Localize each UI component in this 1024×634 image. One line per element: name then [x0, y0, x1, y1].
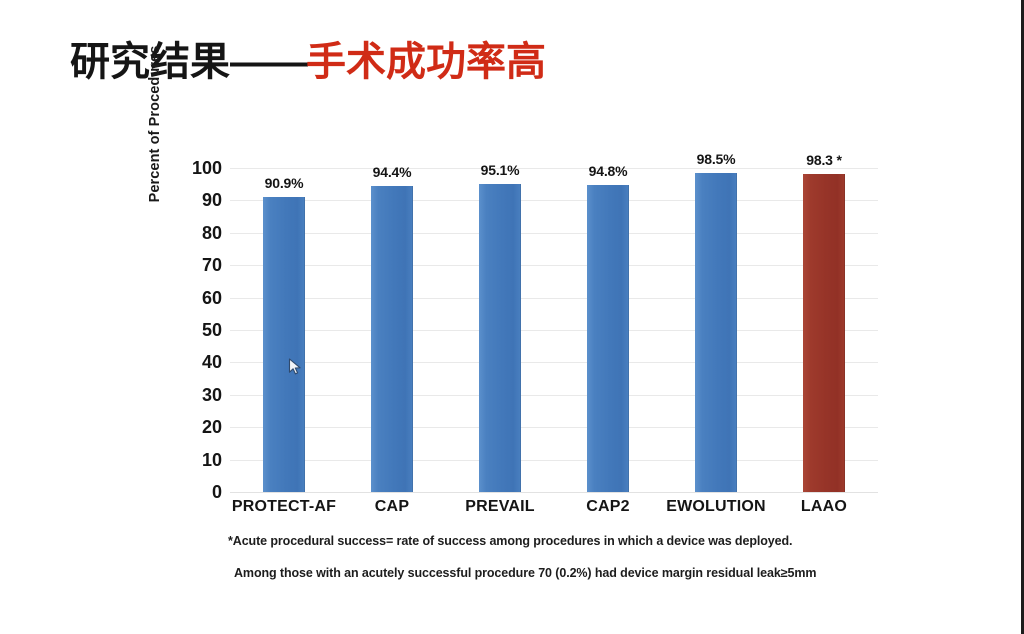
y-tick-label: 10: [152, 451, 222, 469]
page-title: 研究结果——手术成功率高: [70, 33, 546, 91]
bar-prevail[interactable]: [479, 184, 521, 492]
y-tick-label: 0: [152, 483, 222, 501]
bar-slot: 98.3 *: [770, 168, 878, 492]
bar-slot: 94.4%: [338, 168, 446, 492]
x-label-ewolution: EWOLUTION: [666, 498, 766, 516]
y-tick-label: 20: [152, 418, 222, 436]
bar-value-label: 98.3 *: [806, 152, 841, 168]
bar-laao[interactable]: [803, 174, 845, 492]
x-label-cap: CAP: [375, 498, 409, 516]
y-tick-label: 30: [152, 386, 222, 404]
footnote-acute-success: *Acute procedural success= rate of succe…: [228, 534, 928, 549]
bar-cap[interactable]: [371, 186, 413, 492]
bar-chart: Percent of Procedures 010203040506070809…: [150, 150, 910, 590]
plot-area: 90.9%94.4%95.1%94.8%98.5%98.3 *: [230, 168, 878, 492]
y-tick-label: 60: [152, 289, 222, 307]
y-tick-label: 90: [152, 191, 222, 209]
bar-cap2[interactable]: [587, 185, 629, 492]
y-tick-label: 70: [152, 256, 222, 274]
title-part-red: 手术成功率高: [306, 40, 546, 84]
bar-value-label: 90.9%: [265, 175, 304, 191]
y-tick-label: 100: [152, 159, 222, 177]
x-label-laao: LAAO: [801, 498, 847, 516]
bar-slot: 95.1%: [446, 168, 554, 492]
bar-slot: 94.8%: [554, 168, 662, 492]
bar-ewolution[interactable]: [695, 173, 737, 492]
x-label-prevail: PREVAIL: [465, 498, 535, 516]
y-tick-label: 80: [152, 224, 222, 242]
bar-value-label: 98.5%: [697, 151, 736, 167]
x-label-cap2: CAP2: [586, 498, 629, 516]
bars-layer: 90.9%94.4%95.1%94.8%98.5%98.3 *: [230, 168, 878, 492]
bar-value-label: 94.8%: [589, 163, 628, 179]
title-dash: ——: [230, 40, 306, 84]
y-tick-label: 40: [152, 353, 222, 371]
bar-slot: 90.9%: [230, 168, 338, 492]
x-axis-category-labels: PROTECT-AFCAPPREVAILCAP2EWOLUTIONLAAO: [230, 498, 878, 528]
footnotes: *Acute procedural success= rate of succe…: [228, 534, 928, 581]
bar-value-label: 95.1%: [481, 162, 520, 178]
y-axis-ticks: 0102030405060708090100: [150, 168, 222, 492]
gridline: [230, 492, 878, 493]
y-tick-label: 50: [152, 321, 222, 339]
bar-slot: 98.5%: [662, 168, 770, 492]
footnote-residual-leak: Among those with an acutely successful p…: [234, 566, 928, 581]
x-label-protect-af: PROTECT-AF: [232, 498, 336, 516]
bar-value-label: 94.4%: [373, 164, 412, 180]
bar-protect-af[interactable]: [263, 197, 305, 492]
